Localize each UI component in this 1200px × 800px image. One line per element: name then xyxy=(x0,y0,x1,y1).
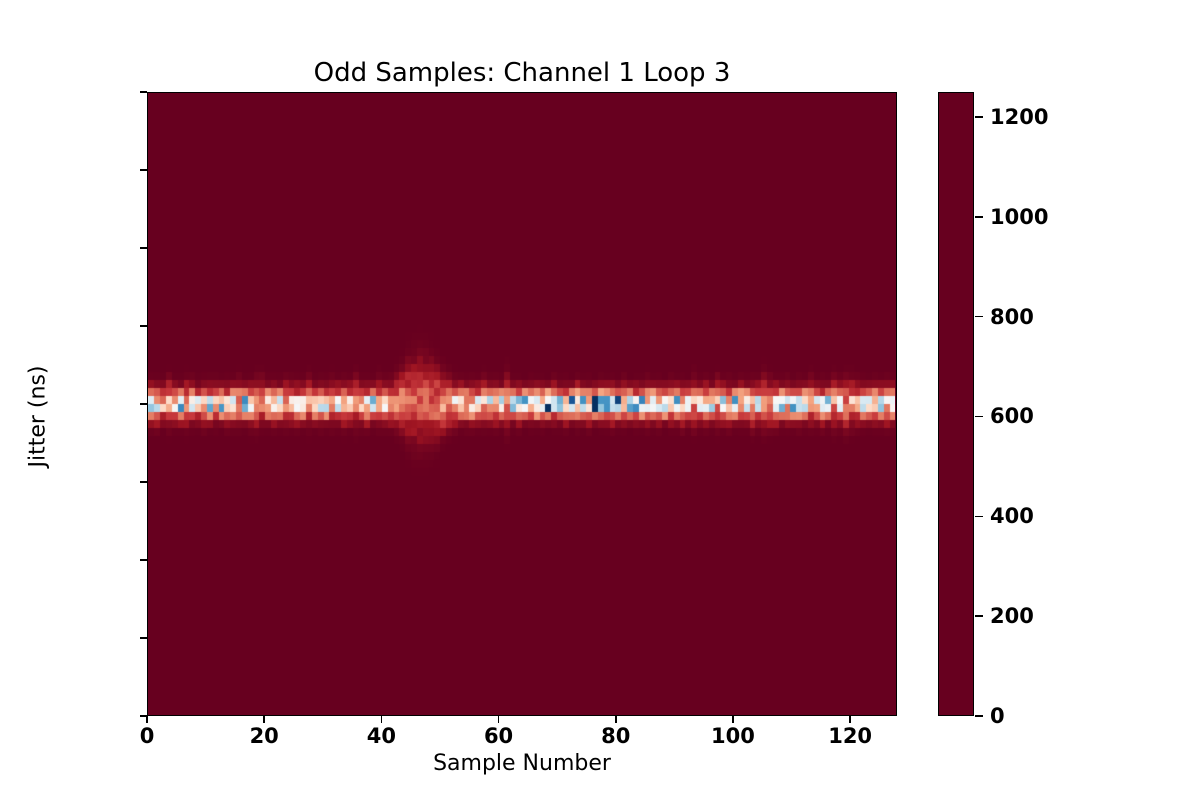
heatmap-axes xyxy=(147,92,897,716)
x-tick-label: 60 xyxy=(484,724,513,748)
x-tick-label: 40 xyxy=(367,724,396,748)
colorbar-tick-label: 1200 xyxy=(990,105,1048,129)
x-tick-mark xyxy=(146,716,148,723)
x-tick-label: 120 xyxy=(828,724,872,748)
y-tick-mark xyxy=(140,559,147,561)
colorbar-tick-mark xyxy=(975,116,983,118)
x-tick-mark xyxy=(381,716,383,723)
colorbar-tick-mark xyxy=(975,416,983,418)
x-tick-mark xyxy=(498,716,500,723)
colorbar-tick-mark xyxy=(975,715,983,717)
y-tick-mark xyxy=(140,325,147,327)
x-tick-label: 80 xyxy=(601,724,630,748)
x-tick-label: 20 xyxy=(250,724,279,748)
x-tick-mark xyxy=(849,716,851,723)
y-tick-mark xyxy=(140,403,147,405)
colorbar xyxy=(938,92,974,716)
y-tick-mark xyxy=(140,247,147,249)
x-tick-mark xyxy=(263,716,265,723)
colorbar-tick-label: 0 xyxy=(990,704,1005,728)
colorbar-tick-label: 1000 xyxy=(990,205,1048,229)
colorbar-tick-mark xyxy=(975,615,983,617)
heatmap-image xyxy=(148,93,895,714)
x-tick-mark xyxy=(615,716,617,723)
y-tick-mark xyxy=(140,169,147,171)
y-axis-label: Jitter (ns) xyxy=(26,317,51,517)
x-tick-label: 0 xyxy=(140,724,155,748)
colorbar-tick-label: 800 xyxy=(990,305,1034,329)
colorbar-tick-mark xyxy=(975,216,983,218)
x-tick-mark xyxy=(732,716,734,723)
colorbar-tick-label: 200 xyxy=(990,604,1034,628)
colorbar-tick-label: 600 xyxy=(990,404,1034,428)
page-title: Odd Samples: Channel 1 Loop 3 xyxy=(147,58,897,88)
colorbar-tick-label: 400 xyxy=(990,504,1034,528)
y-tick-mark xyxy=(140,91,147,93)
x-axis-label: Sample Number xyxy=(147,751,897,776)
colorbar-tick-mark xyxy=(975,316,983,318)
y-tick-mark xyxy=(140,481,147,483)
colorbar-gradient xyxy=(939,93,973,715)
y-tick-mark xyxy=(140,637,147,639)
colorbar-tick-mark xyxy=(975,516,983,518)
figure-canvas: Odd Samples: Channel 1 Loop 3 Jitter (ns… xyxy=(0,0,1200,800)
x-tick-label: 100 xyxy=(711,724,755,748)
